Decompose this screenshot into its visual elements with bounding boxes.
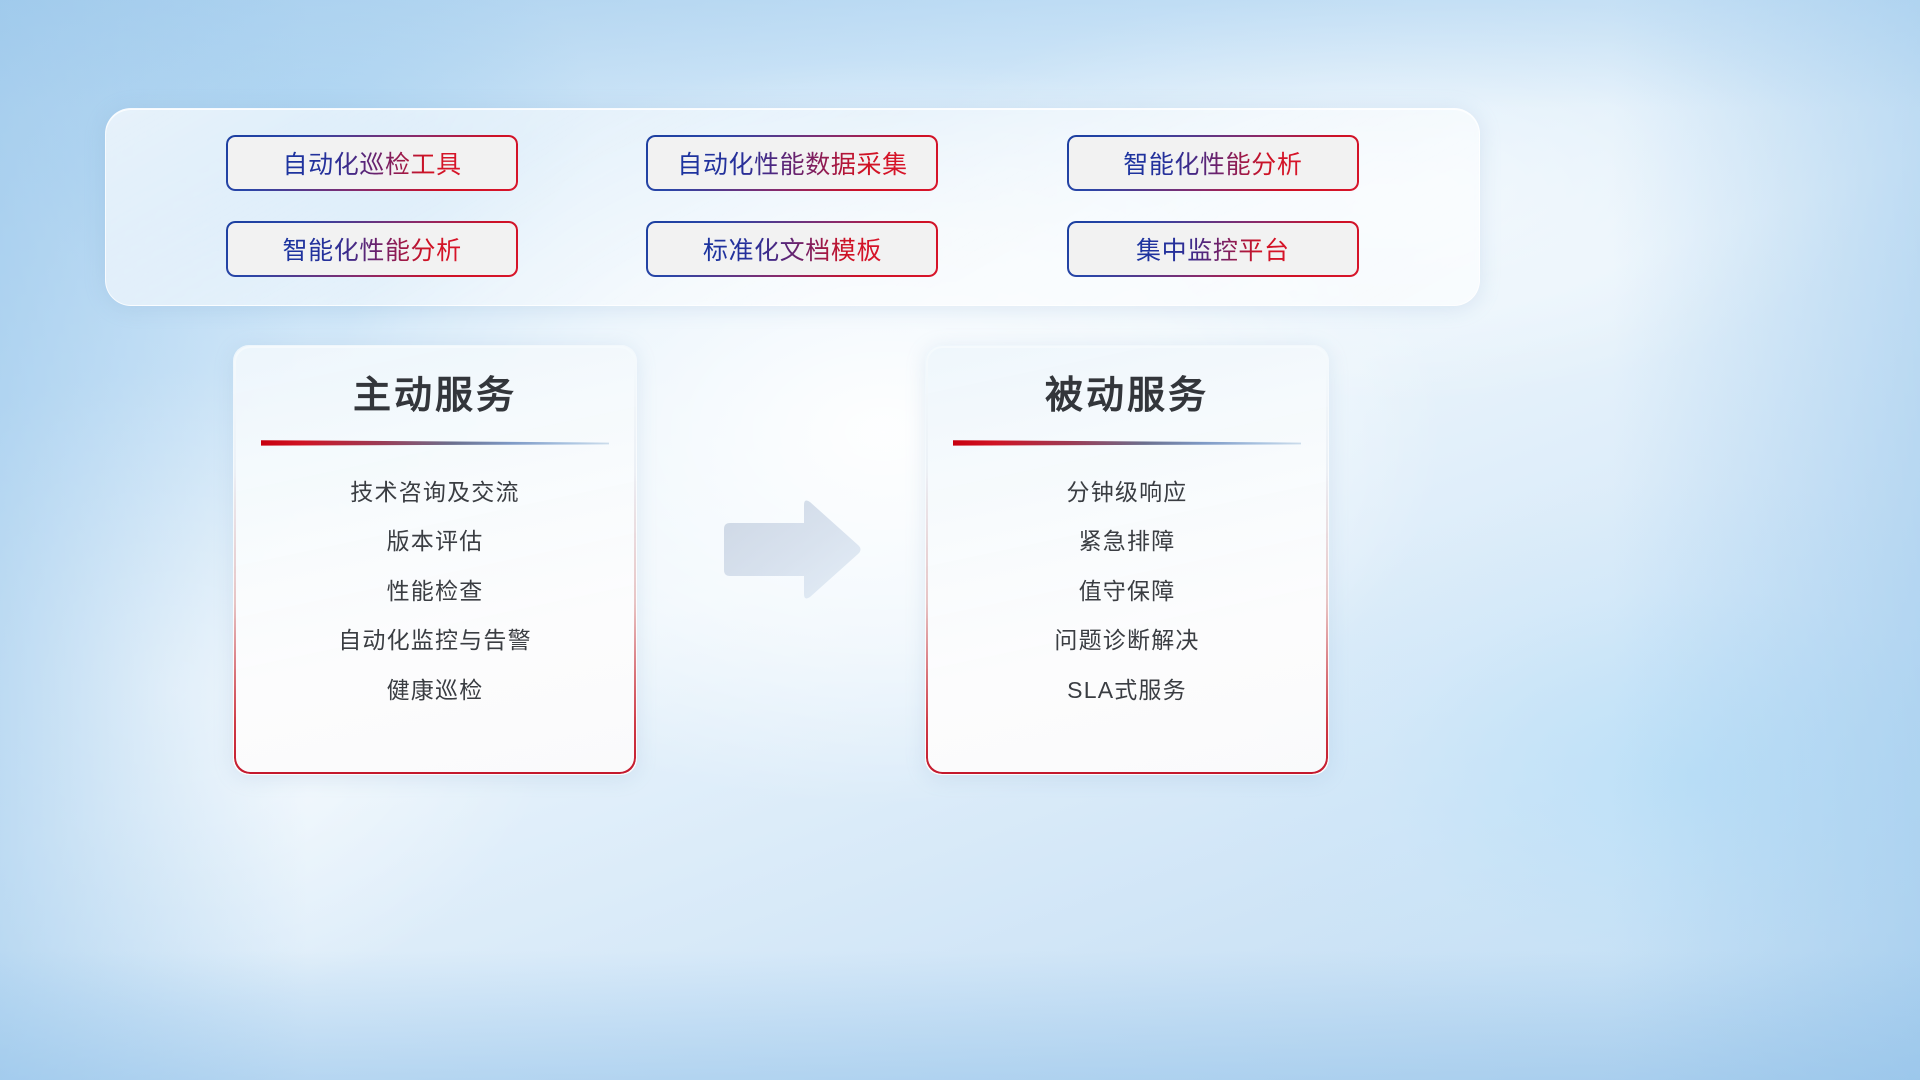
title-divider [261,438,609,446]
service-list-item: 紧急排障 [926,517,1328,567]
service-item-list: 分钟级响应 紧急排障 值守保障 问题诊断解决 SLA式服务 [926,468,1328,716]
capability-pill-label: 标准化文档模板 [703,231,882,267]
capability-pill-label: 自动化性能数据采集 [677,145,907,181]
capability-pill-5[interactable]: 标准化文档模板 [646,221,938,277]
service-card-title: 被动服务 [926,374,1328,420]
capability-pill-2[interactable]: 自动化性能数据采集 [646,135,938,191]
title-divider [953,438,1301,446]
capability-pill-4[interactable]: 智能化性能分析 [226,221,518,277]
service-list-item: 版本评估 [234,517,636,567]
capability-pill-label: 智能化性能分析 [283,231,462,267]
capability-pill-label: 集中监控平台 [1136,231,1290,267]
service-card-reactive: 被动服务 分钟级响应 紧急排障 值守保障 问题诊断解决 SLA式服务 [925,345,1329,775]
service-card-proactive: 主动服务 技术咨询及交流 版本评估 性能检查 自动化监控与告警 健康巡检 [233,345,637,775]
service-list-item: 值守保障 [926,567,1328,617]
service-list-item: 性能检查 [234,567,636,617]
capabilities-panel: 自动化巡检工具 自动化性能数据采集 智能化性能分析 智能化性能分析 标准化文档模… [105,108,1480,306]
service-list-item: SLA式服务 [926,666,1328,716]
service-list-item: 自动化监控与告警 [234,616,636,666]
capability-pill-6[interactable]: 集中监控平台 [1067,221,1359,277]
service-list-item: 技术咨询及交流 [234,468,636,518]
service-list-item: 分钟级响应 [926,468,1328,518]
arrow-right-icon [718,497,863,602]
service-list-item: 健康巡检 [234,666,636,716]
service-item-list: 技术咨询及交流 版本评估 性能检查 自动化监控与告警 健康巡检 [234,468,636,716]
service-list-item: 问题诊断解决 [926,616,1328,666]
capability-pill-label: 自动化巡检工具 [283,145,462,181]
capability-pill-3[interactable]: 智能化性能分析 [1067,135,1359,191]
service-card-title: 主动服务 [234,374,636,420]
capability-pill-label: 智能化性能分析 [1123,145,1302,181]
capability-pill-1[interactable]: 自动化巡检工具 [226,135,518,191]
